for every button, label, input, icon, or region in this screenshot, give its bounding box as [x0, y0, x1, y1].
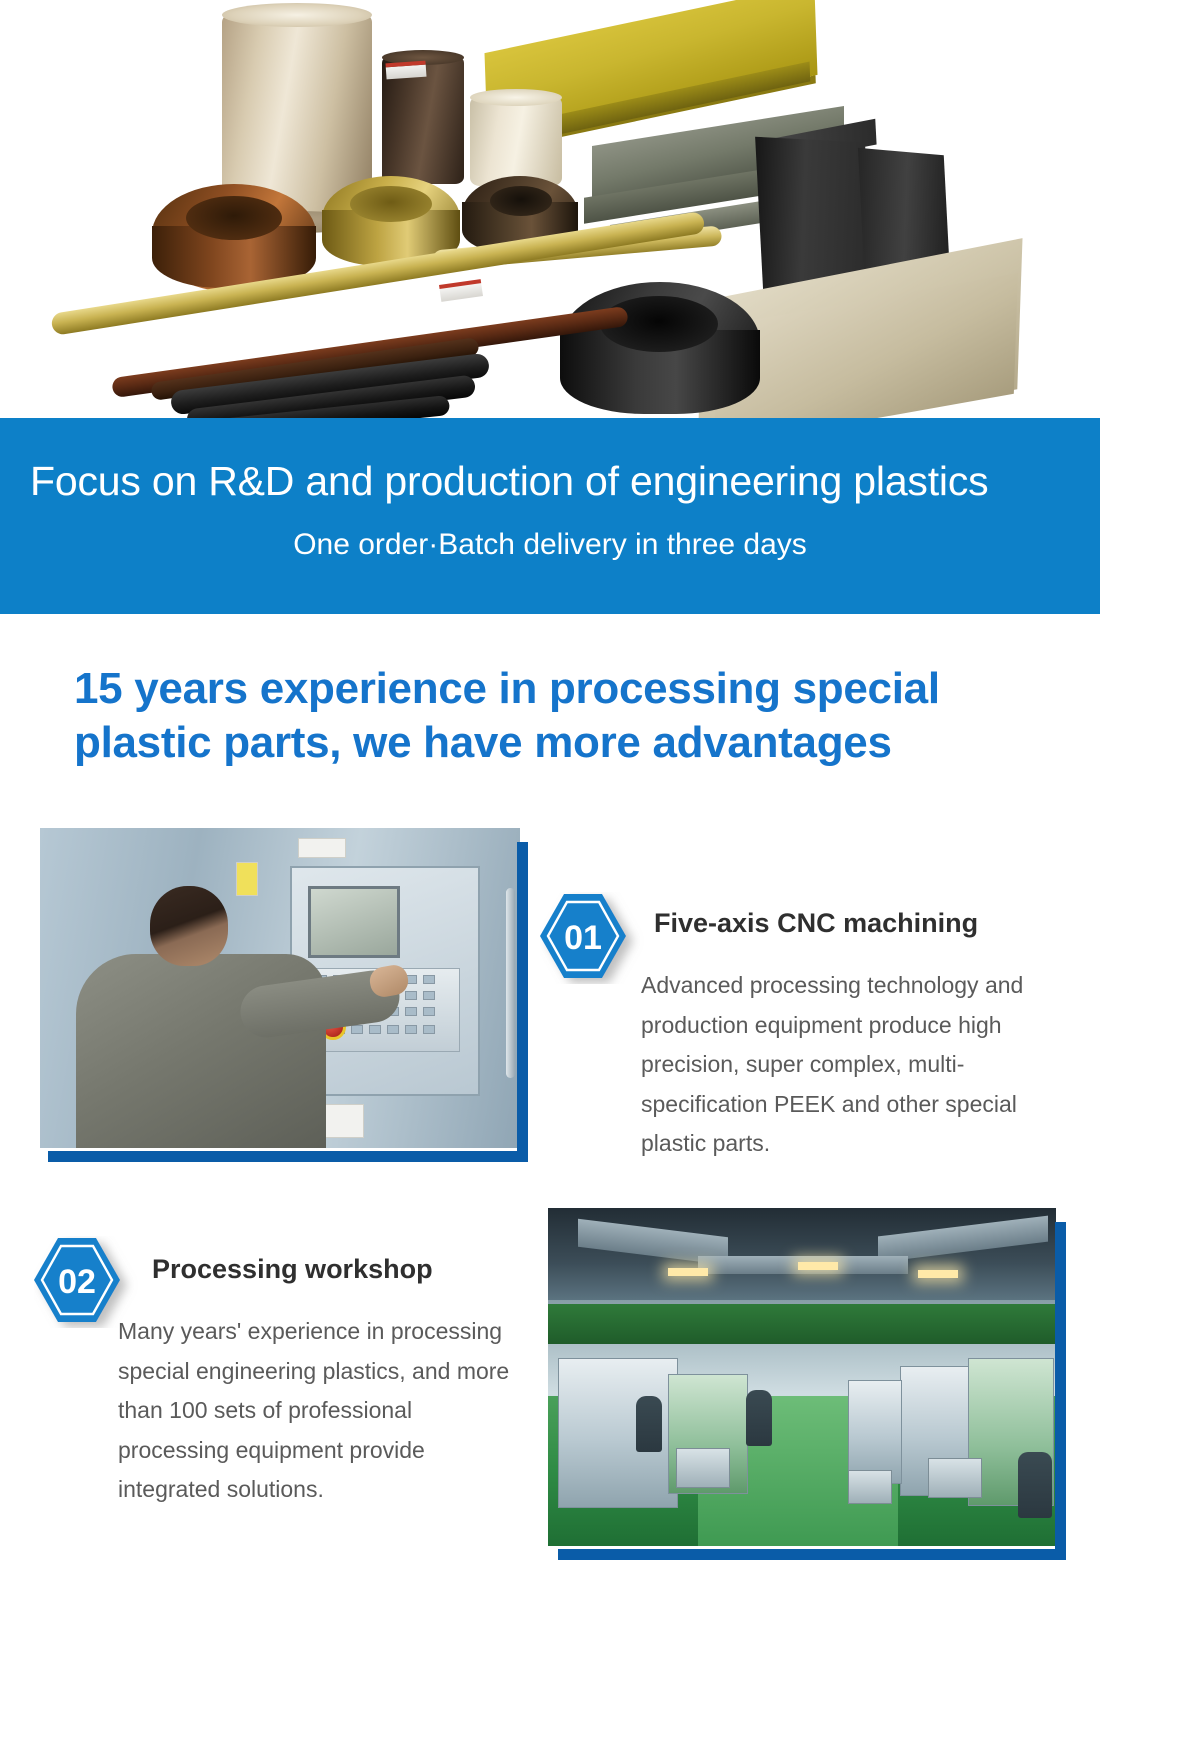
product-gold-ring-hole [350, 186, 432, 222]
cnc-warning-sticker [236, 862, 258, 896]
workshop-machine-5 [848, 1380, 902, 1484]
workshop-cart-3 [848, 1470, 892, 1504]
banner-subtitle: One order·Batch delivery in three days [0, 528, 1100, 562]
product-label-sticker [385, 61, 426, 80]
workshop-worker-1 [636, 1396, 662, 1452]
banner-title: Focus on R&D and production of engineeri… [30, 458, 1070, 505]
page-title-line-1: 15 years experience in processing specia… [74, 664, 940, 713]
feature-02-number-badge: 02 [34, 1236, 120, 1314]
page-title: 15 years experience in processing specia… [74, 662, 1074, 769]
hero-product-photo [0, 0, 1200, 470]
workshop-cart-1 [676, 1448, 730, 1488]
feature-01-title: Five-axis CNC machining [654, 908, 1074, 939]
feature-01-number-text: 01 [564, 919, 602, 957]
cnc-door-handle [506, 888, 515, 1078]
workshop-ceiling [548, 1208, 1056, 1300]
cnc-screen [308, 886, 400, 958]
workshop-cart-2 [928, 1458, 982, 1498]
feature-02-image [548, 1208, 1056, 1546]
feature-01-description: Advanced processing technology and produ… [641, 966, 1071, 1164]
product-cream-cylinder [470, 96, 562, 186]
hero-banner: Focus on R&D and production of engineeri… [0, 418, 1100, 614]
product-rod-label [439, 279, 483, 302]
workshop-worker-2 [746, 1390, 772, 1446]
workshop-lamp-3 [918, 1270, 958, 1278]
workshop-green-wall-band [548, 1304, 1056, 1344]
workshop-lamp-2 [798, 1262, 838, 1270]
cnc-operator-head [150, 886, 228, 966]
feature-02-number-text: 02 [58, 1263, 96, 1301]
feature-01-number-badge: 01 [540, 892, 626, 970]
page-title-line-2: plastic parts, we have more advantages [74, 718, 892, 767]
product-dark-ring-hole [490, 186, 552, 216]
feature-02-title: Processing workshop [152, 1254, 532, 1285]
workshop-lamp-1 [668, 1268, 708, 1276]
workshop-worker-3 [1018, 1452, 1052, 1518]
promo-page: Focus on R&D and production of engineeri… [0, 0, 1200, 1752]
hero-illustration [0, 0, 1200, 470]
product-brown-ring-hole [186, 196, 282, 240]
feature-02-description: Many years' experience in processing spe… [118, 1312, 528, 1510]
cnc-label-sticker [298, 838, 346, 858]
feature-01-image [40, 828, 520, 1148]
